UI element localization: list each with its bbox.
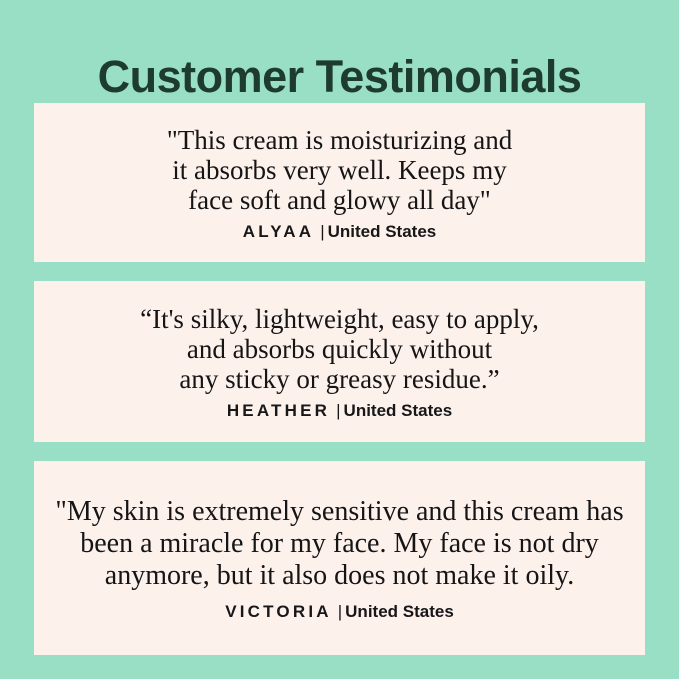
testimonial-card: “It's silky, lightweight, easy to apply,… [34, 281, 645, 442]
testimonials-page: Customer Testimonials "This cream is moi… [0, 0, 679, 679]
quote-line: face soft and glowy all day" [167, 185, 512, 215]
attribution-separator: | [338, 602, 342, 622]
testimonial-card: "My skin is extremely sensitive and this… [34, 461, 645, 655]
testimonial-attribution: VICTORIA | United States [225, 602, 454, 622]
attribution-separator: | [336, 401, 340, 421]
reviewer-name: VICTORIA [225, 602, 332, 622]
testimonial-quote: “It's silky, lightweight, easy to apply,… [140, 304, 539, 394]
quote-line: it absorbs very well. Keeps my [167, 155, 512, 185]
quote-line: any sticky or greasy residue.” [140, 364, 539, 394]
testimonial-attribution: HEATHER | United States [227, 401, 452, 421]
quote-line: "My skin is extremely sensitive and this… [55, 496, 623, 528]
quote-line: "This cream is moisturizing and [167, 125, 512, 155]
testimonial-card: "This cream is moisturizing and it absor… [34, 103, 645, 262]
quote-line: been a miracle for my face. My face is n… [55, 528, 623, 560]
testimonial-list: "This cream is moisturizing and it absor… [34, 103, 645, 674]
page-title: Customer Testimonials [0, 52, 679, 102]
testimonial-attribution: ALYAA | United States [243, 222, 437, 242]
testimonial-quote: "My skin is extremely sensitive and this… [55, 496, 623, 592]
quote-line: anymore, but it also does not make it oi… [55, 560, 623, 592]
quote-line: “It's silky, lightweight, easy to apply, [140, 304, 539, 334]
reviewer-name: ALYAA [243, 222, 314, 242]
reviewer-country: United States [344, 401, 453, 421]
testimonial-quote: "This cream is moisturizing and it absor… [167, 125, 512, 215]
reviewer-name: HEATHER [227, 401, 330, 421]
attribution-separator: | [320, 222, 324, 242]
reviewer-country: United States [345, 602, 454, 622]
quote-line: and absorbs quickly without [140, 334, 539, 364]
reviewer-country: United States [328, 222, 437, 242]
